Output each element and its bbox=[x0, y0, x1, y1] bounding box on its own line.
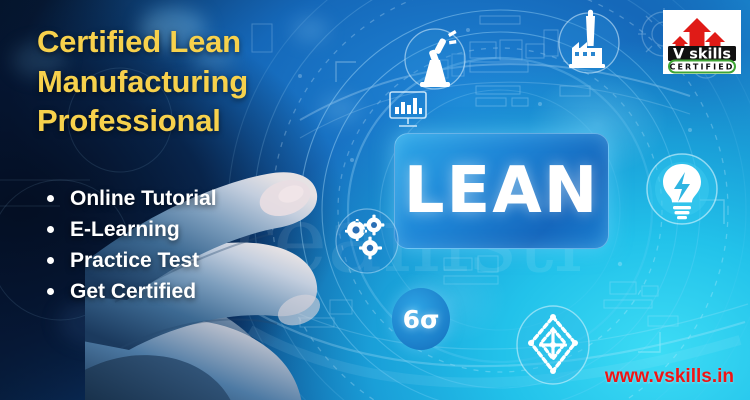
lean-label: LEAN bbox=[404, 159, 600, 223]
headline-line-3: Professional bbox=[37, 101, 367, 141]
vskills-logo[interactable]: V skills CERTIFIED bbox=[663, 10, 741, 74]
site-url[interactable]: www.vskills.in bbox=[605, 366, 734, 388]
lean-sign: LEAN bbox=[394, 133, 609, 249]
feature-list: Online Tutorial E-Learning Practice Test… bbox=[38, 184, 358, 307]
headline-line-2: Manufacturing bbox=[37, 62, 367, 102]
bar-chart-monitor-icon bbox=[384, 86, 432, 132]
list-item: Get Certified bbox=[38, 277, 358, 308]
page-title: Certified Lean Manufacturing Professiona… bbox=[37, 22, 367, 141]
list-item-label: E-Learning bbox=[70, 218, 180, 241]
list-item: Online Tutorial bbox=[38, 184, 358, 215]
list-item-label: Get Certified bbox=[70, 280, 196, 303]
list-item: E-Learning bbox=[38, 215, 358, 246]
circuit-network-icon bbox=[515, 305, 591, 385]
robot-arm-icon bbox=[404, 22, 466, 96]
six-sigma-icon: 6σ bbox=[392, 288, 450, 350]
list-item: Practice Test bbox=[38, 246, 358, 277]
six-sigma-label: 6σ bbox=[403, 307, 440, 332]
svg-text:CERTIFIED: CERTIFIED bbox=[669, 63, 734, 72]
headline-line-1: Certified Lean bbox=[37, 22, 367, 62]
factory-icon bbox=[558, 6, 620, 80]
list-item-label: Online Tutorial bbox=[70, 187, 217, 210]
list-item-label: Practice Test bbox=[70, 249, 199, 272]
lightbulb-idea-icon bbox=[645, 152, 719, 226]
promo-banner: dreamstime bbox=[0, 0, 750, 400]
